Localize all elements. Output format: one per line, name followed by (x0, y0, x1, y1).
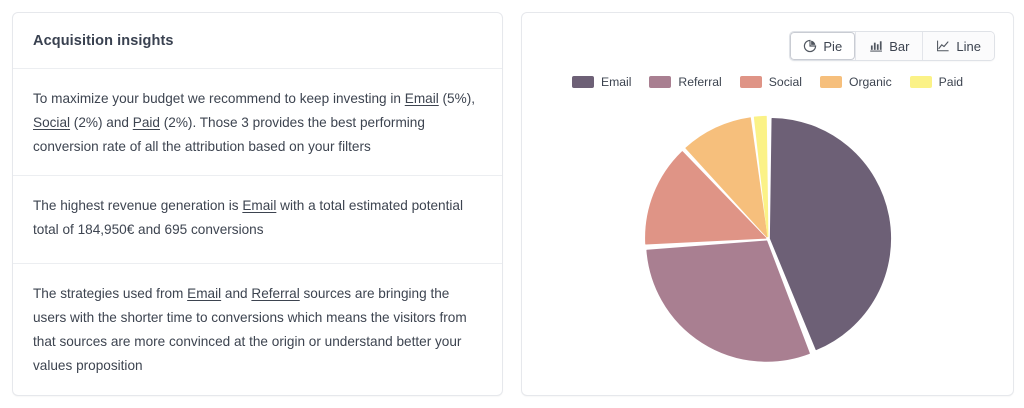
chart-legend: EmailReferralSocialOrganicPaid (522, 75, 1013, 89)
dashboard-panel-row: Acquisition insights To maximize your bu… (0, 0, 1024, 408)
legend-item-paid[interactable]: Paid (910, 75, 963, 89)
legend-label: Email (601, 75, 631, 89)
chart-type-pie-label: Pie (823, 39, 842, 54)
insight-source-link[interactable]: Paid (133, 115, 160, 130)
legend-label: Social (769, 75, 802, 89)
legend-label: Organic (849, 75, 892, 89)
chart-type-button-group[interactable]: Pie Bar (789, 31, 995, 61)
chart-type-line-label: Line (956, 39, 981, 54)
acquisition-chart-card: Pie Bar (521, 12, 1014, 396)
bar-chart-icon (869, 39, 883, 53)
pie-chart-icon (803, 39, 817, 53)
legend-item-social[interactable]: Social (740, 75, 802, 89)
chart-type-pie-button[interactable]: Pie (790, 32, 855, 60)
insight-text-fragment: and (221, 286, 251, 301)
page-title: Acquisition insights (33, 33, 174, 49)
list-item: The strategies used from Email and Refer… (13, 264, 502, 394)
chart-type-bar-button[interactable]: Bar (855, 32, 922, 60)
insight-source-link[interactable]: Social (33, 115, 70, 130)
legend-item-organic[interactable]: Organic (820, 75, 892, 89)
insight-text-fragment: (5%), (439, 91, 475, 106)
insight-source-link[interactable]: Email (242, 198, 276, 213)
legend-label: Paid (939, 75, 963, 89)
insight-text-fragment: (2%) and (70, 115, 133, 130)
legend-swatch-icon (649, 76, 671, 88)
list-item: To maximize your budget we recommend to … (13, 69, 502, 176)
insight-text-fragment: To maximize your budget we recommend to … (33, 91, 405, 106)
insight-text-fragment: The strategies used from (33, 286, 187, 301)
pie-chart-area (522, 89, 1013, 395)
legend-swatch-icon (572, 76, 594, 88)
legend-item-email[interactable]: Email (572, 75, 631, 89)
insight-source-link[interactable]: Referral (251, 286, 299, 301)
legend-label: Referral (678, 75, 721, 89)
chart-toolbar: Pie Bar (522, 13, 1013, 61)
insight-revenue-text: The highest revenue generation is Email … (33, 194, 482, 242)
legend-swatch-icon (740, 76, 762, 88)
chart-type-line-button[interactable]: Line (922, 32, 994, 60)
line-chart-icon (936, 39, 950, 53)
legend-swatch-icon (820, 76, 842, 88)
insight-source-link[interactable]: Email (405, 91, 439, 106)
insight-strategies-text: The strategies used from Email and Refer… (33, 282, 482, 378)
pie-chart[interactable] (643, 114, 893, 364)
list-item: The highest revenue generation is Email … (13, 176, 502, 264)
acquisition-insights-card: Acquisition insights To maximize your bu… (12, 12, 503, 396)
insights-card-header: Acquisition insights (13, 13, 502, 69)
legend-item-referral[interactable]: Referral (649, 75, 721, 89)
insight-source-link[interactable]: Email (187, 286, 221, 301)
insight-list: To maximize your budget we recommend to … (13, 69, 502, 395)
legend-swatch-icon (910, 76, 932, 88)
chart-type-bar-label: Bar (889, 39, 909, 54)
insight-recommendation-text: To maximize your budget we recommend to … (33, 87, 482, 159)
insight-text-fragment: The highest revenue generation is (33, 198, 242, 213)
